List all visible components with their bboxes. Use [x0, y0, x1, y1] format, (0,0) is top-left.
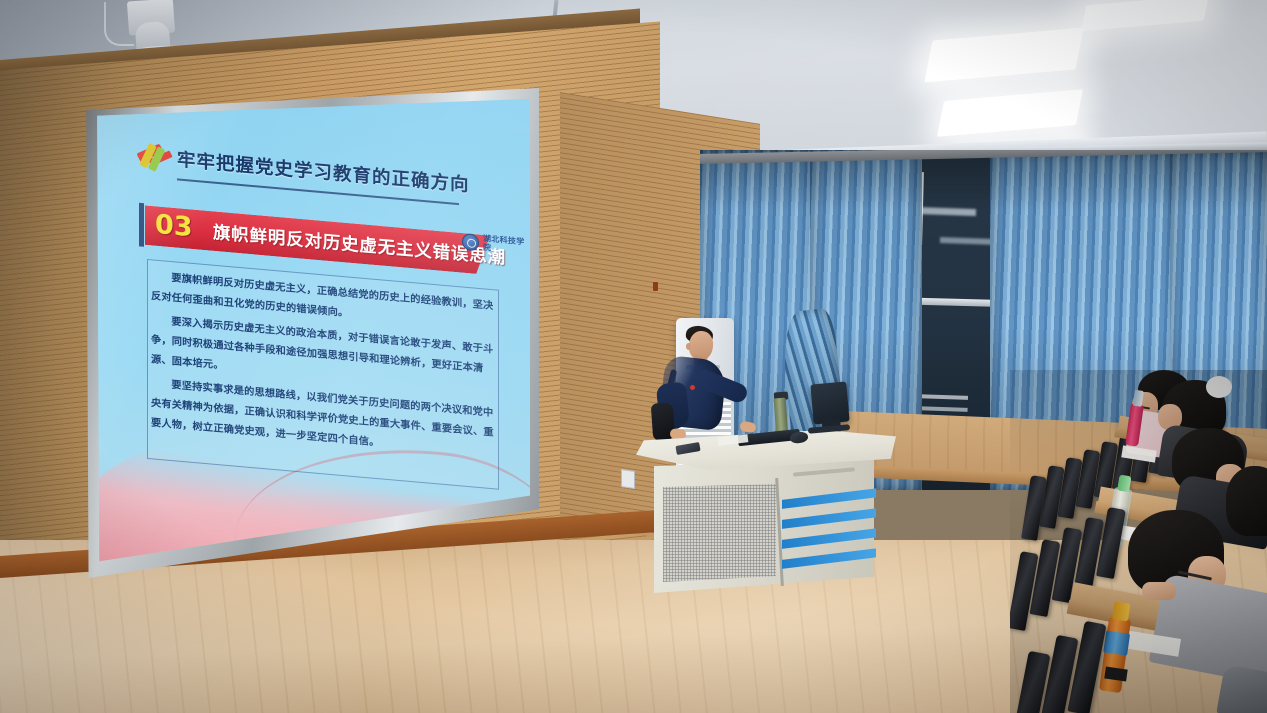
student-hair — [1226, 466, 1267, 536]
chinese-communist-party-emblem-icon — [135, 141, 169, 174]
podium-stripe — [778, 528, 882, 550]
university-crest-badge-icon — [462, 233, 479, 251]
podium-stripe — [778, 548, 882, 570]
podium-blue-stripes — [782, 488, 876, 576]
slide-title: 牢牢把握党史学习教育的正确方向 — [177, 146, 470, 197]
lecturer-left-hand — [670, 428, 687, 439]
presentation-slide: 牢牢把握党史学习教育的正确方向 03 旗帜鲜明反对历史虚无主义错误思潮 湖北科技… — [95, 96, 530, 566]
classroom-photo-scene: 牢牢把握党史学习教育的正确方向 03 旗帜鲜明反对历史虚无主义错误思潮 湖北科技… — [0, 0, 1267, 713]
chair[interactable] — [1067, 621, 1106, 713]
student-hand — [1142, 582, 1176, 600]
lecturer-right-hand — [739, 421, 756, 434]
seated-students-area — [1010, 370, 1267, 713]
window-reflection — [916, 207, 976, 216]
section-bar-tab — [139, 203, 144, 247]
podium-mesh-panel — [663, 484, 776, 582]
lecturer-ear — [686, 343, 691, 350]
wall-mark — [653, 282, 658, 291]
section-number: 03 — [155, 211, 193, 241]
student-hair-clip — [1206, 376, 1232, 398]
window-reflection — [940, 237, 996, 245]
slide-body-text: 要旗帜鲜明反对历史虚无主义，正确总结党的历史上的经验教训，坚决反对任何歪曲和丑化… — [151, 267, 495, 467]
podium-stripe — [778, 508, 882, 530]
projection-screen[interactable]: 牢牢把握党史学习教育的正确方向 03 旗帜鲜明反对历史虚无主义错误思潮 湖北科技… — [95, 96, 530, 566]
wall-power-outlet — [621, 469, 635, 489]
student-body — [1216, 664, 1267, 713]
window-safety-rail — [916, 394, 968, 400]
lecturer-lapel-badge-icon — [690, 385, 695, 390]
